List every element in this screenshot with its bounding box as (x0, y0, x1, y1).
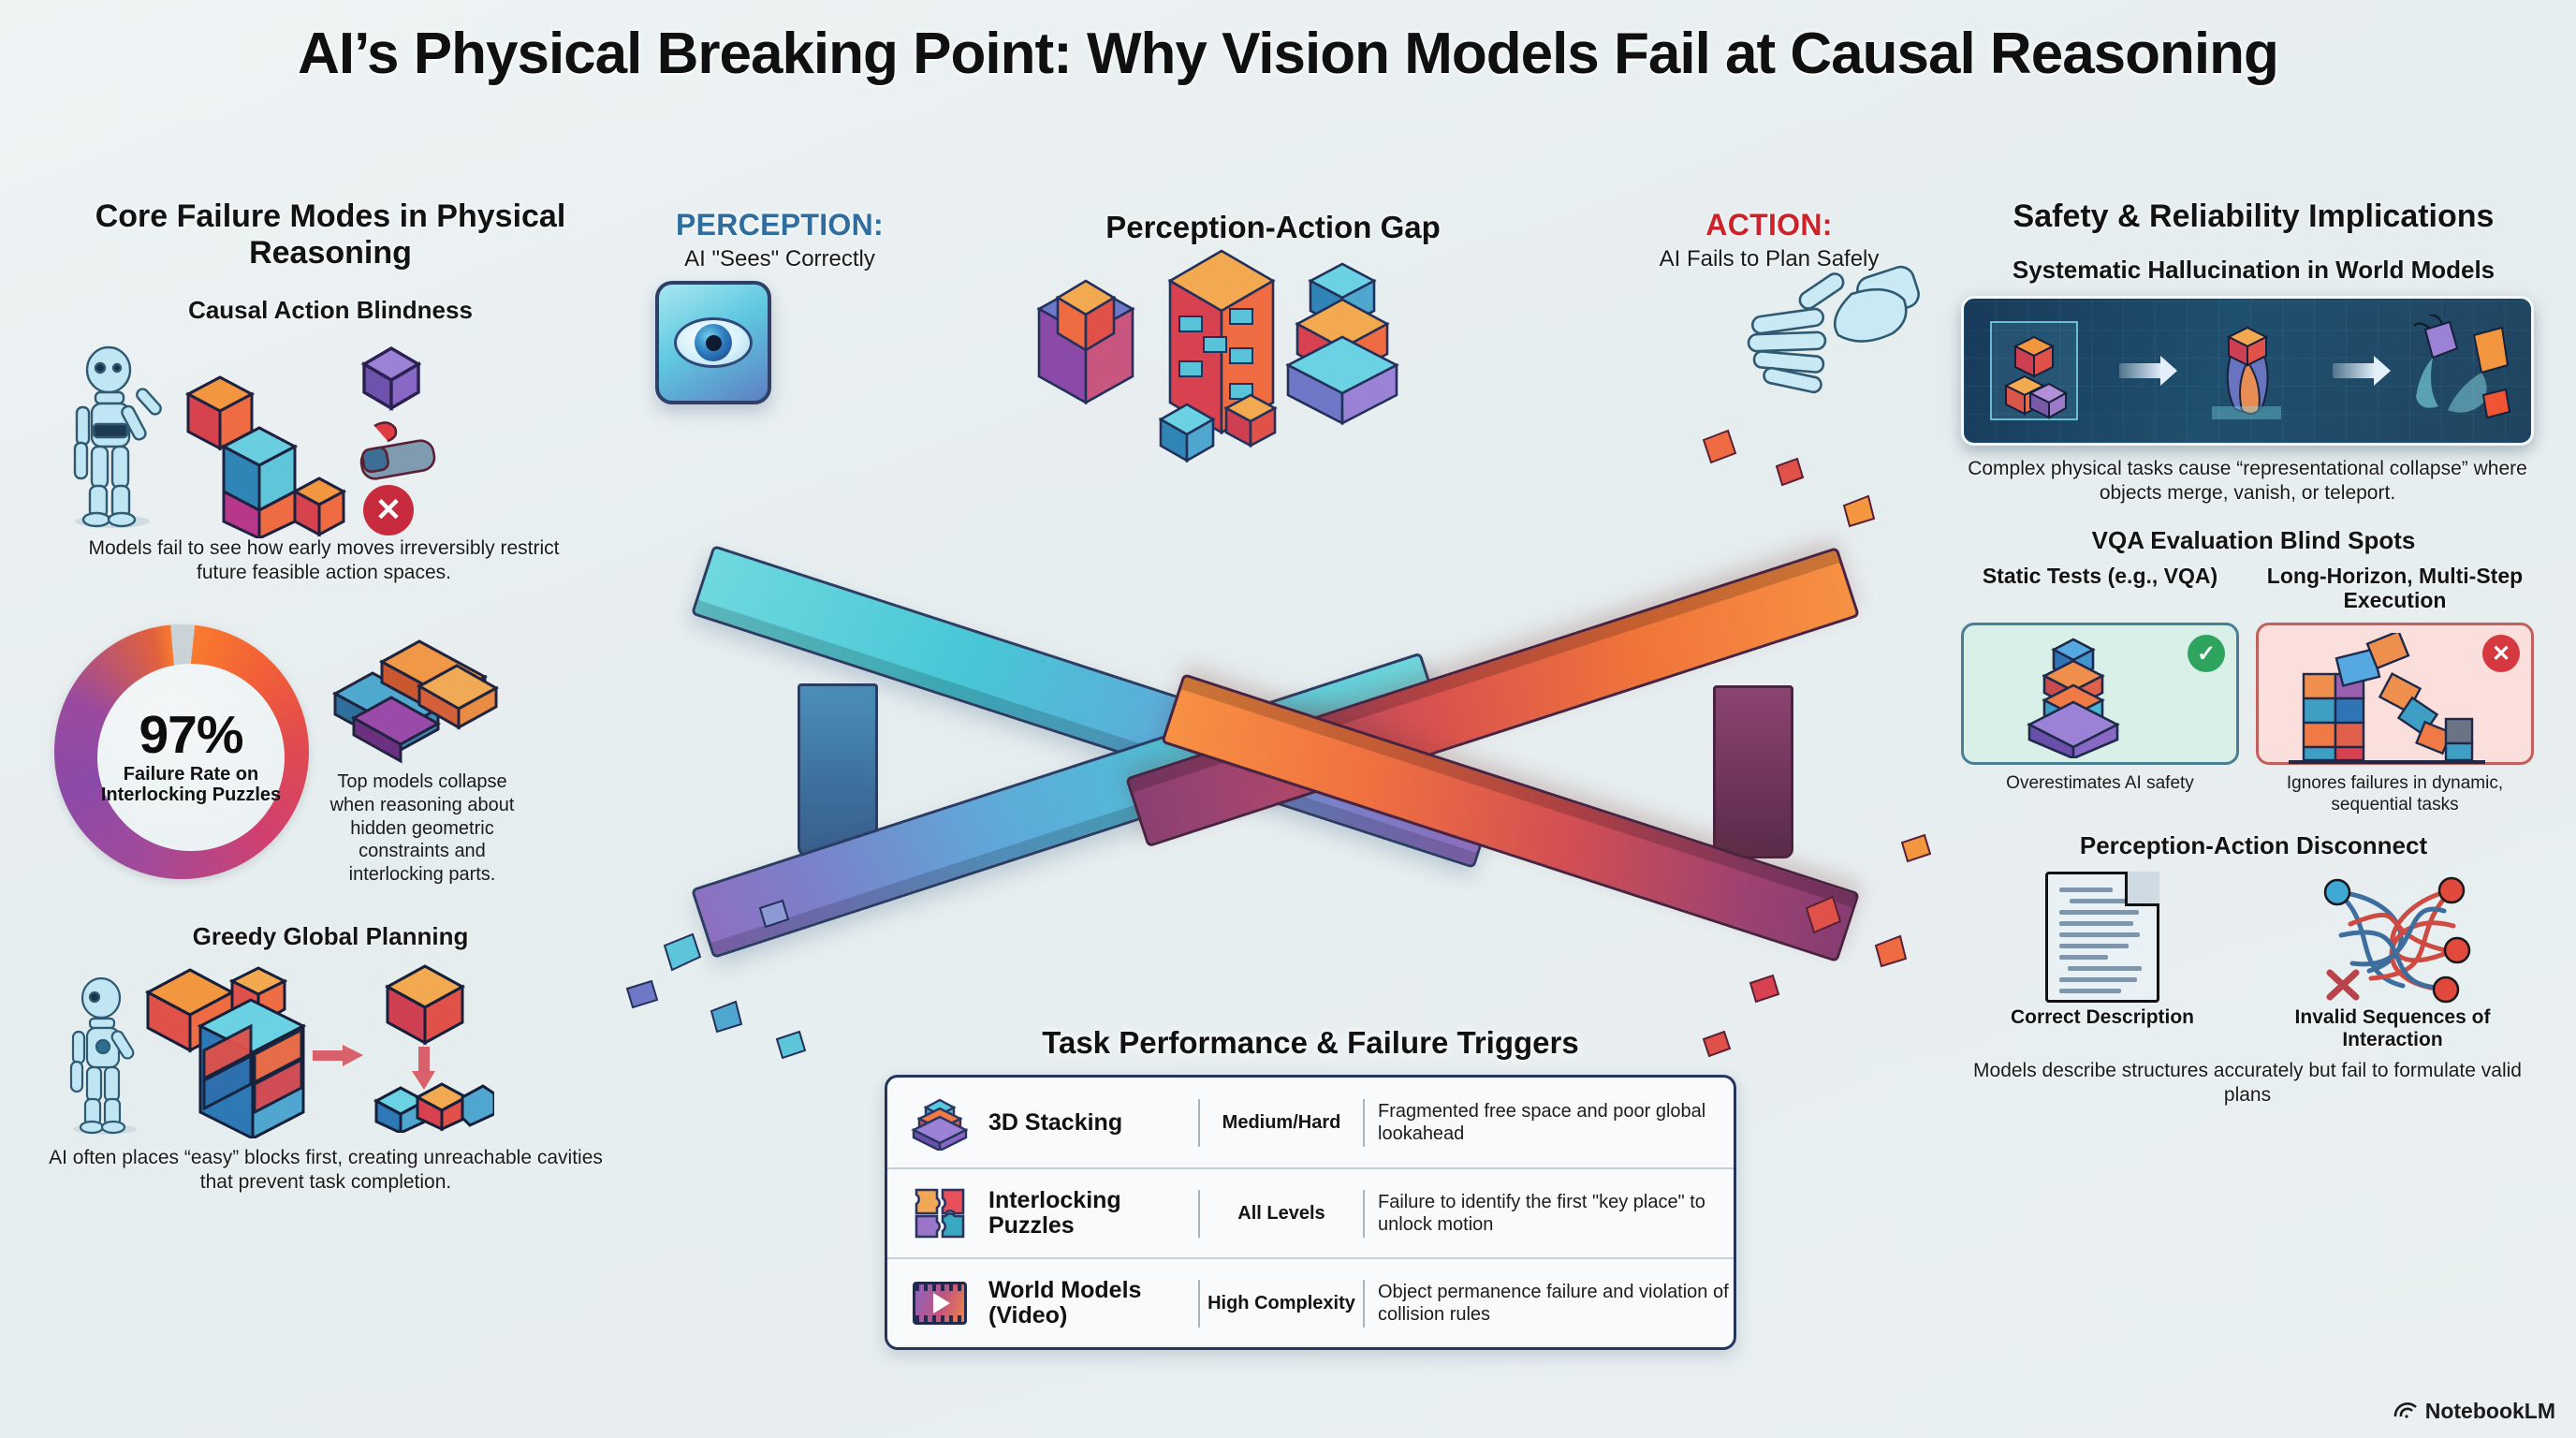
stage-merging-objects (2191, 315, 2304, 427)
stacked-blocks-icon (891, 1094, 988, 1151)
arrow-icon-2 (2333, 363, 2376, 378)
hallucination-caption: Complex physical tasks cause “representa… (1961, 457, 2534, 506)
failure-trigger: Object permanence failure and violation … (1365, 1281, 1730, 1327)
failure-rate-donut-chart: 97% Failure Rate on Interlocking Puzzles (54, 624, 309, 879)
perception-action-disconnect-grid: Correct Description (1961, 868, 2534, 1051)
bridge-pier-right (1713, 685, 1793, 858)
doc-line (2070, 899, 2145, 903)
purple-cube-icon (359, 344, 424, 411)
target-blocks-illustration (373, 964, 494, 1133)
task-table-title: Task Performance & Failure Triggers (871, 1025, 1750, 1061)
greedy-global-planning-illustration (45, 961, 616, 1138)
doc-line (2059, 989, 2121, 993)
correct-description-column: Correct Description (1961, 868, 2244, 1051)
interlocking-puzzle-caption: Top models collapse when reasoning about… (315, 770, 530, 887)
right-column: Safety & Reliability Implications System… (1961, 198, 2546, 1108)
task-level: Medium/Hard (1198, 1099, 1365, 1147)
invalid-sequences-label: Invalid Sequences of Interaction (2251, 1006, 2534, 1051)
doc-line (2059, 955, 2108, 960)
film-frame (913, 1282, 967, 1325)
doc-line (2059, 932, 2140, 937)
donut-center: 97% Failure Rate on Interlocking Puzzles (97, 664, 285, 851)
vqa-static-card: ✓ (1961, 623, 2239, 765)
film-strip-icon (891, 1282, 988, 1325)
failure-rate-label: Failure Rate on Interlocking Puzzles (97, 764, 285, 806)
doc-line (2059, 977, 2137, 982)
doc-line (2068, 966, 2142, 971)
vqa-cards-grid: Static Tests (e.g., VQA) ✓ (1961, 565, 2534, 815)
causal-action-blindness-heading: Causal Action Blindness (45, 296, 616, 325)
notebooklm-label: NotebookLM (2425, 1399, 2555, 1424)
document-icon (1961, 868, 2244, 1006)
vqa-long-horizon-column: Long-Horizon, Multi-Step Execution ✕ (2256, 565, 2534, 815)
perception-kicker: PERCEPTION: (635, 208, 925, 242)
notebooklm-watermark: NotebookLM (2393, 1398, 2555, 1425)
eye-outer (674, 317, 753, 368)
right-column-heading: Safety & Reliability Implications (1961, 198, 2546, 235)
hallucination-heading: Systematic Hallucination in World Models (1961, 256, 2546, 285)
vqa-static-label: Static Tests (e.g., VQA) (1961, 565, 2239, 623)
arrow-icon-1 (2119, 363, 2162, 378)
perception-action-disconnect-heading: Perception-Action Disconnect (1961, 831, 2546, 860)
perception-label-group: PERCEPTION: AI "Sees" Correctly (635, 208, 925, 272)
vqa-long-horizon-label: Long-Horizon, Multi-Step Execution (2256, 565, 2534, 623)
invalid-sequences-column: Invalid Sequences of Interaction (2251, 868, 2534, 1051)
vqa-static-caption: Overestimates AI safety (1961, 772, 2239, 794)
table-row: Interlocking Puzzles All Levels Failure … (887, 1167, 1734, 1257)
document-shape (2045, 872, 2159, 1003)
task-name: World Models (Video) (988, 1278, 1198, 1328)
robot-hand-icon (1711, 255, 1926, 414)
down-arrow-icon (412, 1047, 435, 1090)
tangled-graph-illustration (2313, 870, 2472, 1005)
left-column: Core Failure Modes in Physical Reasoning… (45, 198, 616, 1196)
vqa-blind-spots-heading: VQA Evaluation Blind Spots (1961, 526, 2546, 555)
causal-action-blindness-illustration: ✕ (45, 340, 616, 527)
doc-line (2059, 910, 2139, 915)
causal-action-blindness-caption: Models fail to see how early moves irrev… (62, 536, 586, 586)
tangled-graph-icon (2251, 868, 2534, 1006)
task-name: 3D Stacking (988, 1110, 1198, 1136)
page-title: AI’s Physical Breaking Point: Why Vision… (0, 21, 2576, 87)
collapsing-tower-illustration (2279, 633, 2504, 764)
failure-rate-stat-block: 97% Failure Rate on Interlocking Puzzles… (45, 619, 616, 900)
check-icon: ✓ (2188, 635, 2225, 672)
task-performance-table: 3D Stacking Medium/Hard Fragmented free … (885, 1075, 1736, 1350)
perception-action-gap-label: Perception-Action Gap (1034, 210, 1512, 245)
greedy-global-planning-caption: AI often places “easy” blocks first, cre… (45, 1146, 607, 1196)
robot-figure-icon (54, 345, 176, 528)
vqa-long-horizon-card: ✕ (2256, 623, 2534, 765)
vision-eye-icon (655, 281, 771, 404)
floating-blocks-illustration (1030, 243, 1516, 477)
vqa-static-column: Static Tests (e.g., VQA) ✓ (1961, 565, 2239, 815)
correct-description-label: Correct Description (1961, 1006, 2244, 1029)
notebooklm-logo-icon (2393, 1398, 2418, 1425)
eye-pupil (706, 335, 722, 351)
floating-blocks-group (1030, 243, 1516, 477)
perception-action-disconnect-caption: Models describe structures accurately bu… (1961, 1059, 2534, 1108)
vqa-long-horizon-caption: Ignores failures in dynamic, sequential … (2256, 772, 2534, 815)
left-column-heading: Core Failure Modes in Physical Reasoning (45, 198, 616, 271)
perception-sub: AI "Sees" Correctly (635, 246, 925, 272)
doc-line (2059, 921, 2133, 926)
failure-rate-value: 97% (139, 710, 242, 760)
stable-tower-illustration (2012, 635, 2134, 758)
interlocking-puzzle-illustration (326, 628, 504, 769)
task-name: Interlocking Puzzles (988, 1188, 1198, 1239)
stage-intact-objects (1978, 315, 2090, 427)
center-stage: PERCEPTION: AI "Sees" Correctly Percepti… (599, 197, 1947, 1133)
play-icon (933, 1293, 950, 1313)
doc-line (2059, 944, 2129, 948)
table-row: 3D Stacking Medium/Hard Fragmented free … (887, 1078, 1734, 1167)
error-cross-icon: ✕ (363, 485, 414, 536)
failure-trigger: Fragmented free space and poor global lo… (1365, 1100, 1730, 1146)
puzzle-icon (891, 1187, 988, 1240)
toppled-block-icon (344, 417, 447, 492)
hallucination-panel (1961, 296, 2534, 446)
task-level: High Complexity (1198, 1280, 1365, 1328)
stage-collapsed-objects (2405, 315, 2517, 427)
failure-trigger: Failure to identify the first "key place… (1365, 1191, 1730, 1237)
block-structure-illustration (139, 961, 373, 1138)
table-row: World Models (Video) High Complexity Obj… (887, 1257, 1734, 1347)
right-arrow-icon (313, 1045, 363, 1066)
greedy-global-planning-heading: Greedy Global Planning (45, 922, 616, 951)
task-level: All Levels (1198, 1190, 1365, 1238)
action-kicker: ACTION: (1619, 208, 1919, 242)
bridge-pier-left (798, 683, 878, 857)
doc-line (2059, 888, 2113, 892)
eye-iris (695, 324, 732, 361)
